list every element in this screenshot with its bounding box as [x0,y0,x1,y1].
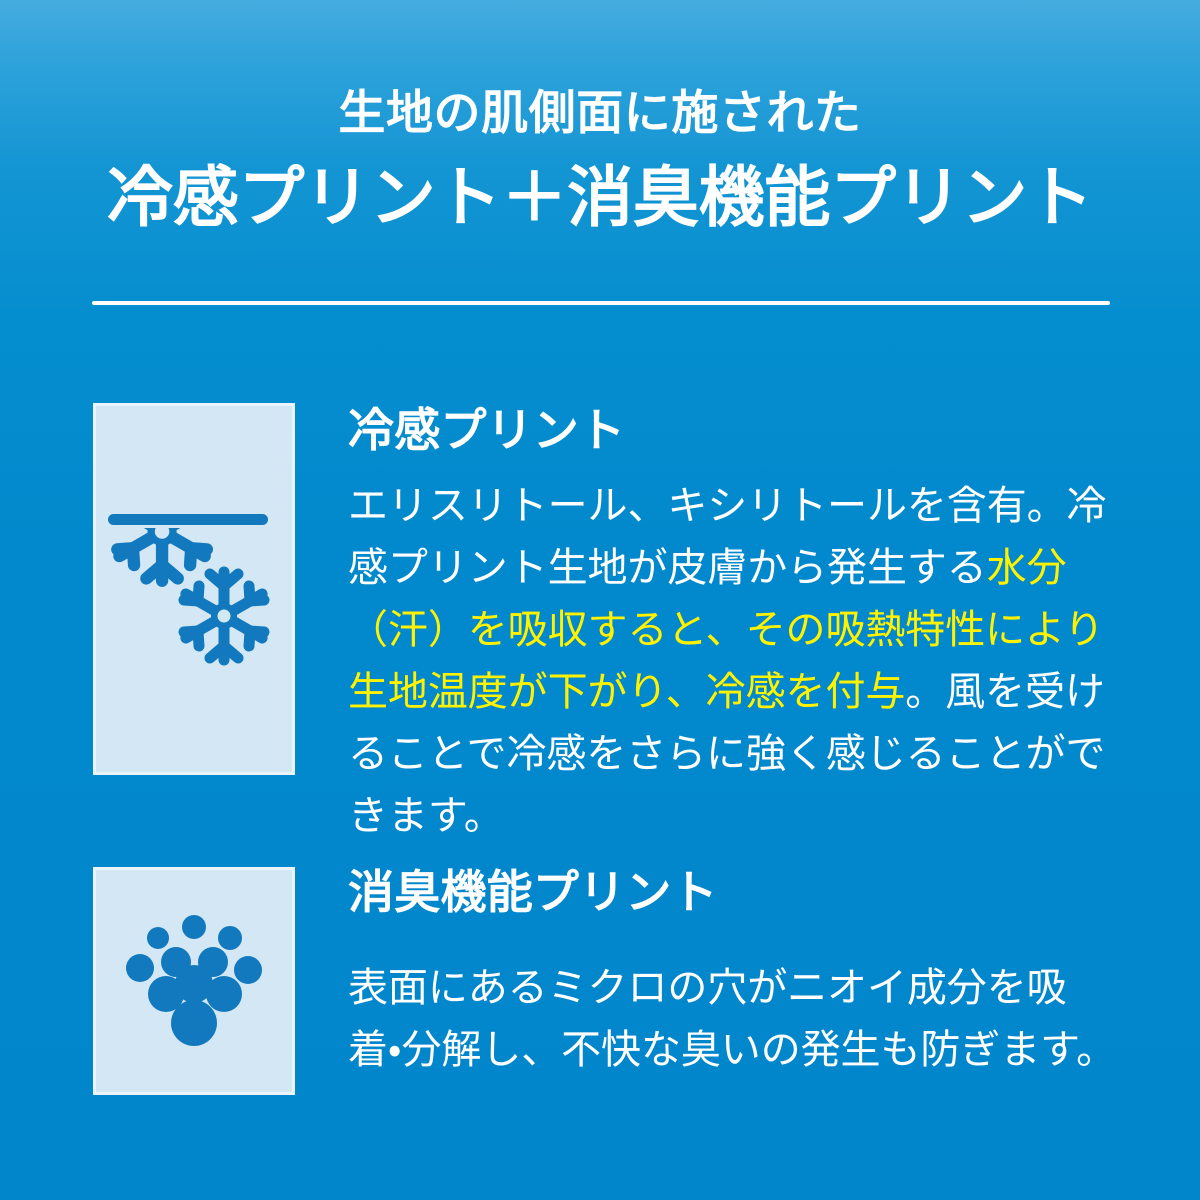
section-cooling-text: エリスリトール、キシリトールを含有。冷感プリント生地が皮膚から発生する水分（汗）… [348,453,1118,847]
section-odor-body: 消臭機能プリント 表面にあるミクロの穴がニオイ成分を吸着・分解し、不快な臭いの発… [348,867,1118,1081]
infographic-poster: 生地の肌側面に施された 冷感プリント＋消臭機能プリント [0,0,1200,1200]
header-divider [92,301,1110,305]
section-cooling-heading: 冷感プリント [348,403,1118,453]
micro-pores-absorption-icon-graphic [96,870,292,1092]
section-odor-text: 表面にあるミクロの穴がニオイ成分を吸着・分解し、不快な臭いの発生も防ぎます。 [348,915,1118,1081]
section-cooling-body: 冷感プリント エリスリトール、キシリトールを含有。冷感プリント生地が皮膚から発生… [348,403,1118,847]
section-odor-heading: 消臭機能プリント [348,867,1118,915]
subtitle: 生地の肌側面に施された [0,0,1200,137]
micro-pores-absorption-icon [93,867,295,1095]
header: 生地の肌側面に施された 冷感プリント＋消臭機能プリント [0,0,1200,233]
page-title: 冷感プリント＋消臭機能プリント [0,137,1200,232]
snowflake-cooling-icon-graphic [96,406,292,772]
text-run-plain: 表面にあるミクロの穴がニオイ成分を吸着・分解し、不快な臭いの発生も防ぎます。 [348,966,1116,1072]
snowflake-cooling-icon [93,403,295,775]
